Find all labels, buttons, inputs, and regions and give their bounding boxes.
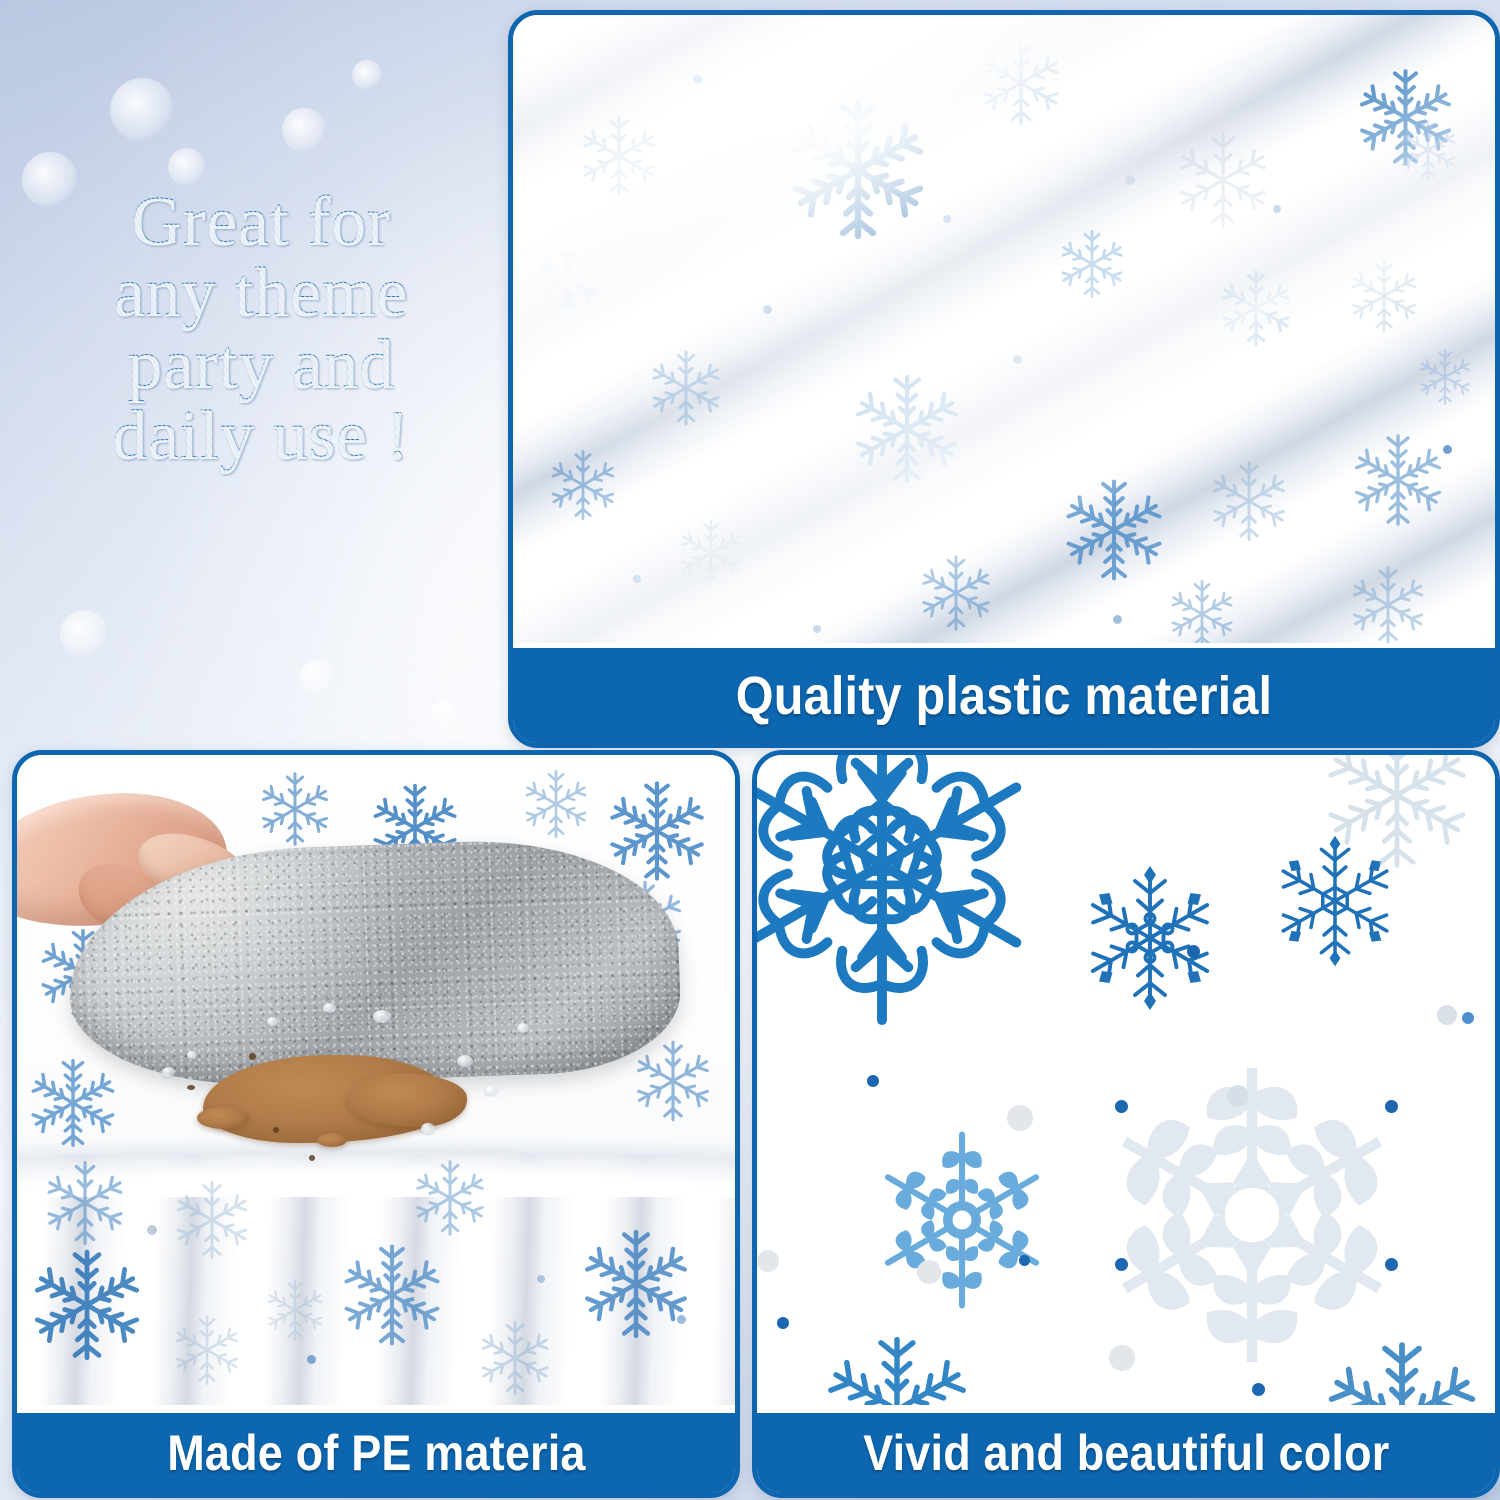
bokeh-circle <box>282 108 326 152</box>
caption-banner-pe-material: Made of PE materia <box>17 1413 735 1493</box>
water-droplet-icon <box>267 1017 278 1026</box>
panel-made-of-pe-material[interactable]: Made of PE materia <box>12 750 740 1498</box>
gray-dot <box>917 1260 941 1284</box>
blue-dot <box>1385 1258 1398 1271</box>
speckle-dot <box>147 1225 157 1235</box>
blue-dot <box>1019 1255 1030 1266</box>
panel-vivid-beautiful-color[interactable]: Vivid and beautiful color <box>752 750 1500 1498</box>
gray-dot <box>1007 1105 1033 1131</box>
spill-droplet <box>249 1053 256 1060</box>
snowflake-print-closeup-photo <box>757 755 1495 1405</box>
water-droplet-icon <box>485 1085 497 1095</box>
blue-dot <box>1252 1383 1265 1396</box>
blue-dot <box>1115 1100 1128 1113</box>
bokeh-circle <box>110 78 174 142</box>
caption-text: Vivid and beautiful color <box>863 1424 1389 1482</box>
spill-stain-icon <box>197 1107 249 1129</box>
spill-droplet <box>187 1085 195 1090</box>
spill-stain-icon <box>317 1133 347 1147</box>
speckle-dot <box>677 1315 686 1324</box>
water-droplet-icon <box>457 1055 473 1067</box>
water-droplet-icon <box>373 1010 391 1023</box>
bokeh-circle <box>352 60 382 90</box>
gray-dot <box>1227 1085 1249 1107</box>
speckle-dot <box>537 1275 545 1283</box>
bokeh-circle <box>60 610 108 658</box>
blue-dot <box>777 1317 789 1329</box>
spill-droplet <box>273 1127 279 1133</box>
wipe-spill-photo <box>17 755 735 1405</box>
spill-droplet <box>309 1155 315 1161</box>
headline-line-3: party and <box>36 329 486 400</box>
blue-dot <box>867 1075 879 1087</box>
spill-stain-icon <box>347 1073 467 1127</box>
gray-dot <box>1109 1345 1135 1371</box>
headline-line-1: Great for <box>36 186 486 257</box>
headline-line-2: any theme <box>36 257 486 328</box>
water-droplet-icon <box>187 1051 197 1059</box>
bokeh-circle <box>300 660 334 694</box>
blue-dot <box>1385 1100 1398 1113</box>
fabric-closeup-photo <box>513 15 1495 643</box>
gray-dot <box>1437 1005 1457 1025</box>
bokeh-circle <box>168 148 206 186</box>
caption-text: Quality plastic material <box>736 665 1272 727</box>
water-droplet-icon <box>323 1003 336 1013</box>
blue-dot <box>1187 945 1200 958</box>
blue-dot <box>1115 1258 1128 1271</box>
water-droplet-icon <box>421 1123 435 1134</box>
caption-banner-quality: Quality plastic material <box>513 648 1495 743</box>
caption-banner-vivid-color: Vivid and beautiful color <box>757 1413 1495 1493</box>
page-title: Great for any theme party and daily use … <box>36 186 486 472</box>
table-edge <box>17 1137 735 1197</box>
caption-text: Made of PE materia <box>167 1424 585 1482</box>
product-infographic: Great for any theme party and daily use … <box>0 0 1500 1500</box>
panel-quality-plastic-material[interactable]: Quality plastic material <box>508 10 1500 748</box>
water-droplet-icon <box>517 1023 529 1033</box>
blue-dot <box>1462 1012 1474 1024</box>
bokeh-circle <box>430 700 456 726</box>
gray-dot <box>757 1250 779 1272</box>
fabric-sheen <box>513 15 1495 643</box>
speckle-dot <box>307 1355 316 1364</box>
headline-line-4: daily use ! <box>36 400 486 471</box>
water-droplet-icon <box>162 1067 175 1077</box>
